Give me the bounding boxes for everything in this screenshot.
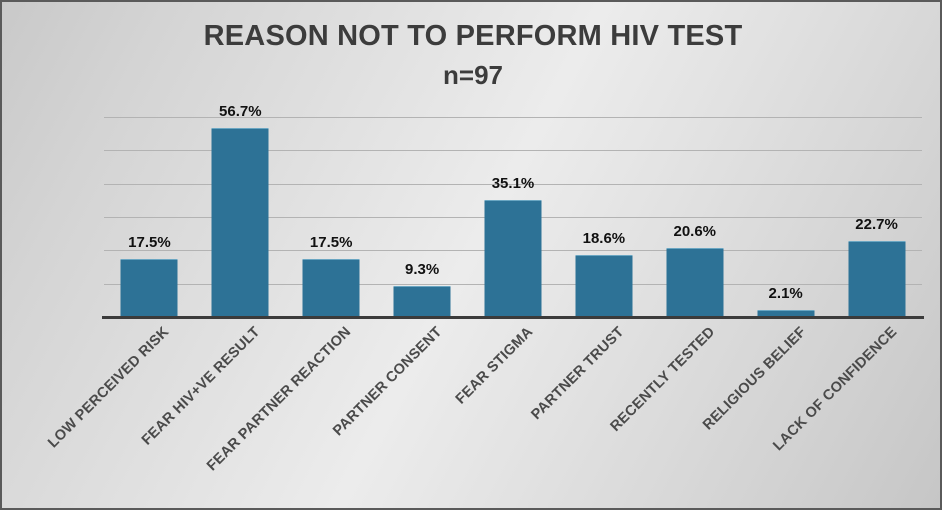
category-label-text: PARTNER TRUST xyxy=(528,324,627,423)
bar-value-label: 17.5% xyxy=(128,234,171,251)
bar-value-label: 2.1% xyxy=(769,285,803,302)
bar-group: 17.5% xyxy=(286,117,377,317)
x-axis-category-labels: LOW PERCEIVED RISKFEAR HIV+VE RESULTFEAR… xyxy=(104,324,922,509)
page-title: REASON NOT TO PERFORM HIV TEST xyxy=(2,16,942,56)
bar-group: 9.3% xyxy=(377,117,468,317)
bar-group: 22.7% xyxy=(831,117,922,317)
bar-value-label: 22.7% xyxy=(855,216,898,233)
chart-figure: REASON NOT TO PERFORM HIV TEST n=97 17.5… xyxy=(0,0,942,510)
bar-value-label: 9.3% xyxy=(405,261,439,278)
bar-value-label: 17.5% xyxy=(310,234,353,251)
bar-value-label: 35.1% xyxy=(492,175,535,192)
bar[interactable] xyxy=(303,259,360,317)
plot-area: 17.5%56.7%17.5%9.3%35.1%18.6%20.6%2.1%22… xyxy=(104,117,922,317)
category-label-text: RELIGIOUS BELIEF xyxy=(700,324,809,433)
bar[interactable] xyxy=(121,259,178,317)
bar-group: 17.5% xyxy=(104,117,195,317)
x-axis-line xyxy=(102,316,924,319)
bar-group: 2.1% xyxy=(740,117,831,317)
bar-group: 56.7% xyxy=(195,117,286,317)
bar-group: 35.1% xyxy=(468,117,559,317)
bar[interactable] xyxy=(212,128,269,317)
bar-group: 20.6% xyxy=(649,117,740,317)
bar-group: 18.6% xyxy=(558,117,649,317)
bar[interactable] xyxy=(394,286,451,317)
bar[interactable] xyxy=(666,248,723,317)
chart-title-block: REASON NOT TO PERFORM HIV TEST n=97 xyxy=(2,16,942,94)
bar-value-label: 18.6% xyxy=(583,230,626,247)
bar[interactable] xyxy=(575,255,632,317)
category-label-text: FEAR STIGMA xyxy=(453,324,537,408)
bar-value-label: 56.7% xyxy=(219,103,262,120)
category-label-text: RECENTLY TESTED xyxy=(607,324,718,435)
bar[interactable] xyxy=(484,200,541,317)
bar[interactable] xyxy=(848,241,905,317)
chart-subtitle: n=97 xyxy=(2,56,942,94)
bar-value-label: 20.6% xyxy=(673,223,716,240)
category-label-text: FEAR PARTNER REACTION xyxy=(204,324,354,474)
